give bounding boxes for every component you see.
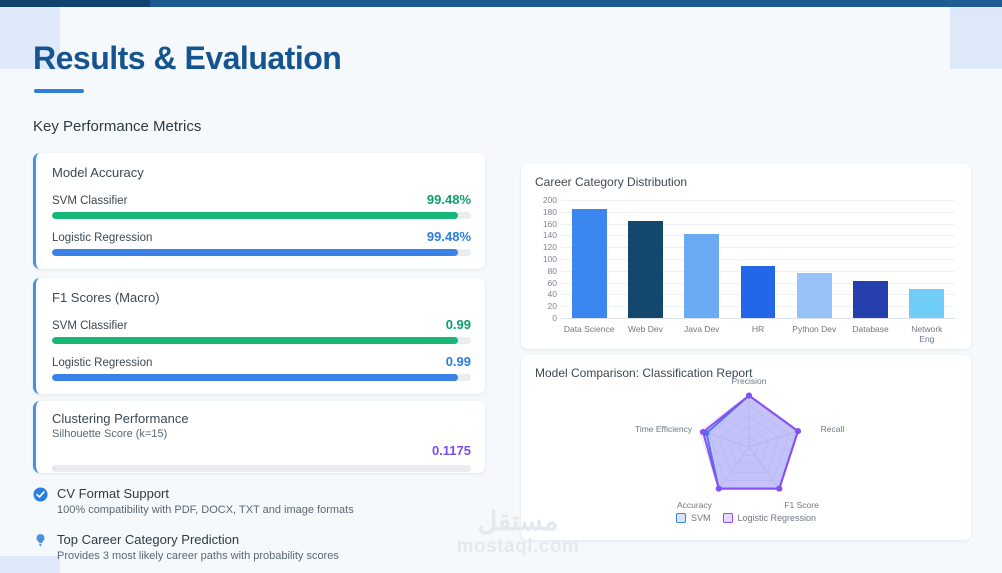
y-axis-tick: 20 [533,301,557,311]
legend-label: SVM [691,513,711,523]
top-bar-accent [150,0,1002,7]
gridline [561,224,955,225]
metric-row: SVM Classifier 99.48% [52,192,471,207]
bar [572,209,607,318]
radar-axis-label: F1 Score [784,500,819,510]
progress-track [52,374,471,381]
progress-fill [52,374,458,381]
bar [628,221,663,318]
bar [741,266,776,318]
metric-name: SVM Classifier [52,195,127,207]
progress-fill [52,212,458,219]
radar-chart: PrecisionRecallF1 ScoreAccuracyTime Effi… [521,377,971,512]
progress-track [52,249,471,256]
page-title: Results & Evaluation [33,40,341,77]
metric-row: Logistic Regression 0.99 [52,354,471,369]
y-axis-tick: 140 [533,230,557,240]
legend-swatch [676,513,686,523]
decoration-top-right [950,7,1002,69]
metric-value: 99.48% [427,229,471,244]
y-axis-tick: 200 [533,195,557,205]
legend-swatch [722,513,732,523]
bar-chart: 020406080100120140160180200Data ScienceW… [535,196,957,336]
feature-cv-format-support: CV Format Support 100% compatibility wit… [33,485,453,516]
x-axis-label: Database [852,324,888,334]
x-axis-label: Python Dev [792,324,836,334]
watermark-arabic: مستقل [428,508,608,535]
metric-row: Logistic Regression 99.48% [52,229,471,244]
career-category-distribution-card: Career Category Distribution 02040608010… [521,164,971,349]
check-circle-icon [33,487,48,502]
progress-track [52,465,471,472]
metric-value: 0.99 [446,354,471,369]
silhouette-score-value: 0.1175 [432,443,471,458]
y-axis-tick: 0 [533,313,557,323]
y-axis-tick: 120 [533,242,557,252]
watermark-latin: mostaql.com [428,535,608,560]
metric-row: SVM Classifier 0.99 [52,317,471,332]
gridline [561,259,955,260]
clustering-performance-card: Clustering Performance Silhouette Score … [33,401,485,473]
x-axis-label: Web Dev [628,324,663,334]
title-underline [34,89,84,93]
radar-axis-label: Accuracy [677,500,712,510]
progress-track [52,212,471,219]
card-title: F1 Scores (Macro) [52,290,471,305]
bar [853,281,888,318]
feature-top-career-prediction: Top Career Category Prediction Provides … [33,531,453,562]
chart-title: Career Category Distribution [535,175,957,189]
radar-axis-label: Time Efficiency [635,424,692,434]
y-axis-tick: 100 [533,254,557,264]
radar-axis-label: Precision [732,376,767,386]
gridline [561,247,955,248]
radar-svg [521,377,971,512]
bar [909,289,944,319]
gridline [561,212,955,213]
metric-name: Logistic Regression [52,357,152,369]
metric-name: Logistic Regression [52,232,152,244]
legend-label: Logistic Regression [737,513,816,523]
y-axis-tick: 60 [533,278,557,288]
x-axis-label: Data Science [564,324,615,334]
y-axis-tick: 160 [533,219,557,229]
card-subtitle: Silhouette Score (k=15) [52,428,471,440]
gridline [561,200,955,201]
y-axis-tick: 80 [533,266,557,276]
progress-fill [52,465,57,472]
x-axis-label: Java Dev [684,324,719,334]
watermark: مستقل mostaql.com [428,508,608,560]
radar-legend: SVMLogistic Regression [676,513,816,523]
legend-item[interactable]: SVM [676,513,711,523]
feature-title: CV Format Support [57,486,169,501]
bar [684,234,719,318]
y-axis-tick: 40 [533,289,557,299]
section-label: Key Performance Metrics [33,118,201,135]
legend-item[interactable]: Logistic Regression [722,513,816,523]
bar [797,273,832,318]
feature-subtitle: Provides 3 most likely career paths with… [57,550,339,562]
radar-axis-label: Recall [821,424,845,434]
card-title: Clustering Performance [52,411,471,426]
feature-title: Top Career Category Prediction [57,532,239,547]
feature-subtitle: 100% compatibility with PDF, DOCX, TXT a… [57,504,354,516]
progress-fill [52,249,458,256]
gridline [561,235,955,236]
model-accuracy-card: Model Accuracy SVM Classifier 99.48% Log… [33,153,485,269]
metric-name: SVM Classifier [52,320,127,332]
x-axis-line [561,318,955,319]
lightbulb-icon [33,533,48,548]
progress-fill [52,337,458,344]
x-axis-label: Network Eng [911,324,942,344]
progress-track [52,337,471,344]
x-axis-label: HR [752,324,764,334]
card-title: Model Accuracy [52,165,471,180]
metric-value: 0.99 [446,317,471,332]
y-axis-tick: 180 [533,207,557,217]
f1-scores-card: F1 Scores (Macro) SVM Classifier 0.99 Lo… [33,278,485,394]
metric-value: 99.48% [427,192,471,207]
